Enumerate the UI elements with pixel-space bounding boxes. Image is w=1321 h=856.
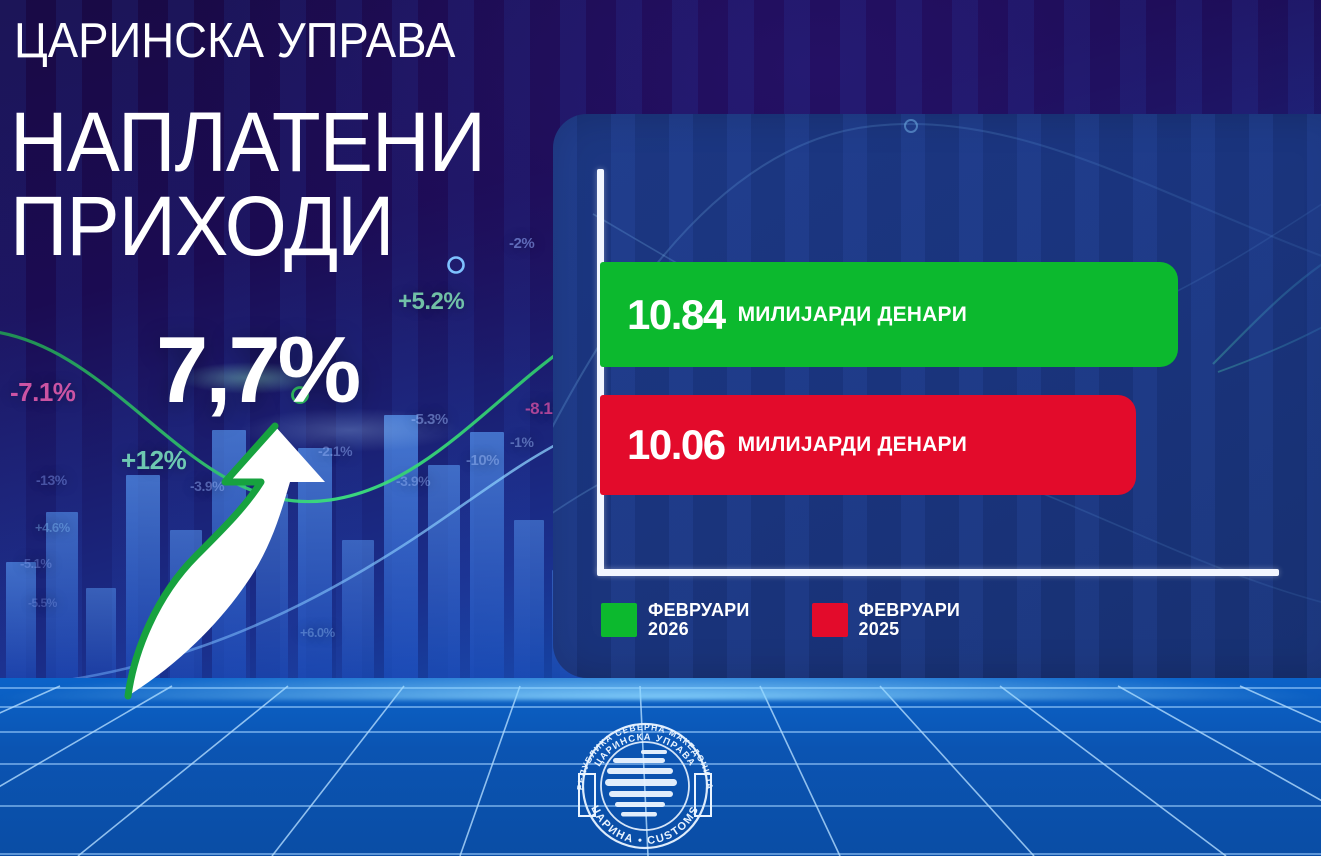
upward-growth-arrow-icon [120,420,370,700]
legend-item-2026: ФЕВРУАРИ 2026 [601,601,750,638]
background-percent-label: -13% [36,472,67,488]
legend-label-2026-year: 2026 [648,620,750,639]
chart-legend: ФЕВРУАРИ 2026 ФЕВРУАРИ 2025 [601,601,960,638]
bar-february-2025: 10.06 МИЛИЈАРДИ ДЕНАРИ [600,395,1136,495]
svg-text:ЦАРИНА • CUSTOMS: ЦАРИНА • CUSTOMS [588,804,701,847]
legend-label-2025: ФЕВРУАРИ 2025 [859,601,961,638]
background-percent-label: -5.1% [20,556,51,571]
legend-swatch-red [812,603,848,637]
customs-administration-emblem: РЕПУБЛИКА СЕВЕРНА МАКЕДОНИЈА ЦАРИНСКА УП… [561,700,729,856]
bar-unit-2025: МИЛИЈАРДИ ДЕНАРИ [738,433,967,457]
chart-y-axis [597,169,604,573]
bar-unit-2026: МИЛИЈАРДИ ДЕНАРИ [738,303,967,327]
legend-label-2025-month: ФЕВРУАРИ [859,601,961,620]
page-title-line-2: ПРИХОДИ [10,188,394,265]
legend-label-2026-month: ФЕВРУАРИ [648,601,750,620]
bar-february-2026: 10.84 МИЛИЈАРДИ ДЕНАРИ [600,262,1178,367]
legend-label-2026: ФЕВРУАРИ 2026 [648,601,750,638]
legend-label-2025-year: 2025 [859,620,961,639]
background-percent-label: -10% [466,452,499,469]
background-percent-label: +5.2% [398,288,464,316]
growth-percentage: 7,7% [156,323,358,417]
legend-item-2025: ФЕВРУАРИ 2025 [812,601,961,638]
bar-value-2026: 10.84 [627,291,725,339]
chart-card: 10.84 МИЛИЈАРДИ ДЕНАРИ 10.06 МИЛИЈАРДИ Д… [553,114,1321,678]
chart-x-axis [597,569,1279,576]
bar-value-2025: 10.06 [627,421,725,469]
background-percent-label: -2% [509,235,534,252]
page-title-line-1: НАПЛАТЕНИ [10,104,485,181]
background-percent-label: -7.1% [10,377,75,408]
organization-name: ЦАРИНСКА УПРАВА [14,17,455,66]
legend-swatch-green [601,603,637,637]
background-percent-label: -5.3% [411,411,448,428]
emblem-bottom-text: ЦАРИНА • CUSTOMS [588,804,701,847]
background-percent-label: -3.9% [396,473,430,489]
background-percent-label: -5.5% [28,596,57,610]
background-percent-label: +4.6% [35,520,70,535]
infographic-canvas: -2%+5.2%+12%-7.1%-13%+4.6%-5.1%-5.5%-3.9… [0,0,1321,856]
background-percent-label: -1% [510,434,533,450]
